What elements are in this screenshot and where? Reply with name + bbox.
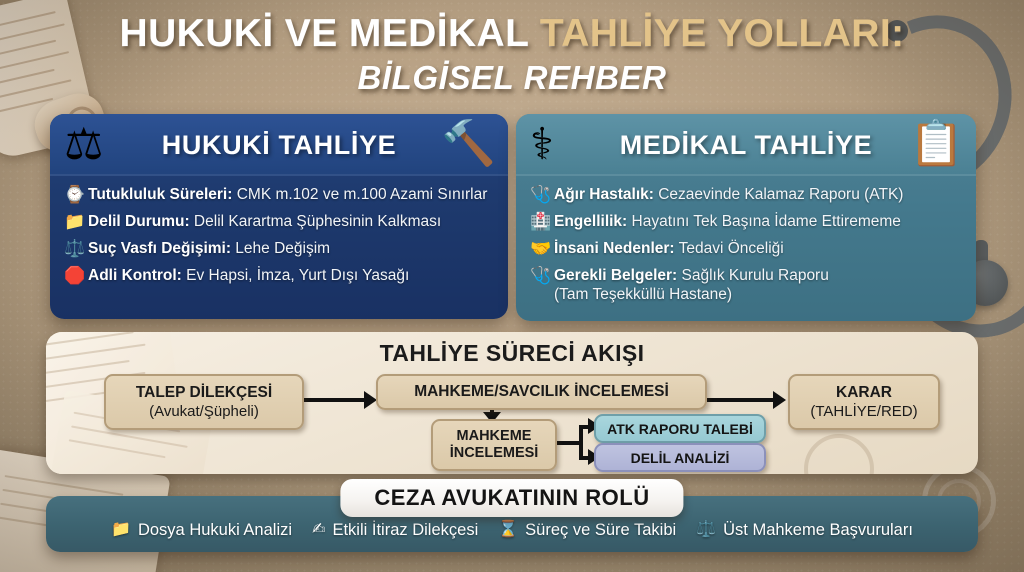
flow-box-title: KARAR bbox=[836, 384, 892, 402]
writing-hand-icon: ✍ bbox=[312, 521, 325, 539]
flow-connector-savcilik-to-karar bbox=[707, 398, 775, 402]
title-line1-gold: TAHLİYE YOLLARI: bbox=[540, 12, 905, 55]
circle-decoration-flow bbox=[804, 434, 874, 474]
page-title: HUKUKİ VE MEDİKAL TAHLİYE YOLLARI: BİLGİ… bbox=[0, 14, 1024, 97]
flow-box-atk-raporu-talebi[interactable]: ATK RAPORU TALEBİ bbox=[594, 414, 766, 443]
folder-icon: 📁 bbox=[62, 212, 88, 232]
scales-icon: ⚖️ bbox=[62, 239, 88, 259]
list-item-label: Gerekli Belgeler: bbox=[554, 267, 677, 284]
flow-box-mahkeme-incelemesi[interactable]: MAHKEME İNCELEMESİ bbox=[431, 419, 557, 471]
role-item-dosya-analizi[interactable]: 📁 Dosya Hukuki Analizi bbox=[111, 521, 292, 540]
medical-panel-header: ⚕ MEDİKAL TAHLİYE 📋 bbox=[516, 114, 976, 176]
list-item: ⚖️ Suç Vasfı Değişimi: Lehe Değişim bbox=[62, 239, 496, 259]
flow-box-title: MAHKEME/SAVCILIK İNCELEMESİ bbox=[414, 383, 669, 401]
list-item: 🩺 Gerekli Belgeler: Sağlık Kurulu Raporu… bbox=[528, 266, 964, 304]
gavel-icon: 🔨 bbox=[441, 122, 496, 166]
list-item-label: İnsani Nedenler: bbox=[554, 240, 675, 257]
legal-panel-title: HUKUKİ TAHLİYE bbox=[162, 130, 396, 161]
flow-box-title: TALEP DİLEKÇESİ bbox=[136, 384, 272, 402]
medical-release-panel: ⚕ MEDİKAL TAHLİYE 📋 🩺 Ağır Hastalık: Cez… bbox=[516, 114, 976, 321]
balance-scale-icon: ⚖ bbox=[64, 123, 103, 167]
caduceus-icon: ⚕ bbox=[530, 123, 554, 167]
title-line2: BİLGİSEL REHBER bbox=[0, 59, 1024, 97]
scales-icon: ⚖️ bbox=[696, 521, 716, 539]
hospital-icon: 🏥 bbox=[528, 212, 554, 232]
stethoscope-icon: 🩺 bbox=[528, 185, 554, 205]
role-item-label: Süreç ve Süre Takibi bbox=[525, 521, 676, 540]
medical-clipboard-icon: 📋 bbox=[909, 122, 964, 166]
list-item-value: Delil Karartma Şüphesinin Kalkması bbox=[190, 213, 442, 230]
role-item-itiraz-dilekcesi[interactable]: ✍ Etkili İtiraz Dilekçesi bbox=[312, 521, 478, 540]
flow-arrow-2 bbox=[773, 391, 786, 409]
flow-box-subtitle: (Avukat/Şüpheli) bbox=[149, 403, 259, 420]
process-flow-panel: TAHLİYE SÜRECİ AKIŞI TALEP DİLEKÇESİ (Av… bbox=[46, 332, 978, 474]
list-item: 🤝 İnsani Nedenler: Tedavi Önceliği bbox=[528, 239, 964, 259]
red-octagon-icon: 🛑 bbox=[62, 266, 88, 286]
hourglass-icon: ⌛ bbox=[498, 521, 518, 539]
flow-box-title: DELİL ANALİZİ bbox=[631, 450, 730, 466]
role-item-list: 📁 Dosya Hukuki Analizi ✍ Etkili İtiraz D… bbox=[111, 521, 913, 540]
flow-box-delil-analizi[interactable]: DELİL ANALİZİ bbox=[594, 443, 766, 472]
folder-icon: 📁 bbox=[111, 521, 131, 539]
watch-icon: ⌚ bbox=[62, 185, 88, 205]
flow-box-title: MAHKEME İNCELEMESİ bbox=[450, 428, 539, 462]
list-item: 🏥 Engellilik: Hayatını Tek Başına İdame … bbox=[528, 212, 964, 232]
list-item-value: Lehe Değişim bbox=[231, 240, 330, 257]
stethoscope-icon: 🩺 bbox=[528, 266, 554, 286]
role-section-badge: CEZA AVUKATININ ROLÜ bbox=[340, 479, 683, 517]
flow-box-mahkeme-savcilik-incelemesi[interactable]: MAHKEME/SAVCILIK İNCELEMESİ bbox=[376, 374, 707, 410]
legal-panel-header: ⚖ HUKUKİ TAHLİYE 🔨 bbox=[50, 114, 508, 176]
infographic-canvas: HUKUKİ VE MEDİKAL TAHLİYE YOLLARI: BİLGİ… bbox=[0, 0, 1024, 572]
list-item: ⌚ Tutukluluk Süreleri: CMK m.102 ve m.10… bbox=[62, 185, 496, 205]
list-item-value: Cezaevinde Kalamaz Raporu (ATK) bbox=[654, 186, 904, 203]
list-item-label: Suç Vasfı Değişimi: bbox=[88, 240, 231, 257]
legal-panel-body: ⌚ Tutukluluk Süreleri: CMK m.102 ve m.10… bbox=[50, 176, 508, 303]
flow-section-title: TAHLİYE SÜRECİ AKIŞI bbox=[46, 340, 978, 367]
list-item-value: CMK m.102 ve m.100 Azami Sınırlar bbox=[232, 186, 487, 203]
medical-panel-body: 🩺 Ağır Hastalık: Cezaevinde Kalamaz Rapo… bbox=[516, 176, 976, 321]
list-item-label: Engellilik: bbox=[554, 213, 627, 230]
role-item-label: Dosya Hukuki Analizi bbox=[138, 521, 292, 540]
flow-connector-split bbox=[579, 426, 583, 460]
medical-panel-title: MEDİKAL TAHLİYE bbox=[620, 130, 873, 161]
flow-box-title: ATK RAPORU TALEBİ bbox=[607, 421, 753, 437]
flow-box-subtitle: (TAHLİYE/RED) bbox=[810, 403, 917, 420]
role-item-ust-mahkeme[interactable]: ⚖️ Üst Mahkeme Başvuruları bbox=[696, 521, 913, 540]
list-item: 🛑 Adli Kontrol: Ev Hapsi, İmza, Yurt Dış… bbox=[62, 266, 496, 286]
legal-release-panel: ⚖ HUKUKİ TAHLİYE 🔨 ⌚ Tutukluluk Süreleri… bbox=[50, 114, 508, 319]
list-item: 🩺 Ağır Hastalık: Cezaevinde Kalamaz Rapo… bbox=[528, 185, 964, 205]
role-item-surec-takibi[interactable]: ⌛ Süreç ve Süre Takibi bbox=[498, 521, 676, 540]
list-item-value: Tedavi Önceliği bbox=[675, 240, 784, 257]
role-item-label: Etkili İtiraz Dilekçesi bbox=[332, 521, 478, 540]
flow-connector-talep-to-savcilik bbox=[304, 398, 366, 402]
handshake-icon: 🤝 bbox=[528, 239, 554, 259]
role-item-label: Üst Mahkeme Başvuruları bbox=[723, 521, 913, 540]
title-line1-white: HUKUKİ VE MEDİKAL bbox=[120, 12, 540, 55]
list-item-label: Adli Kontrol: bbox=[88, 267, 182, 284]
list-item-label: Tutukluluk Süreleri: bbox=[88, 186, 232, 203]
list-item: 📁 Delil Durumu: Delil Karartma Şüphesini… bbox=[62, 212, 496, 232]
list-item-value: Hayatını Tek Başına İdame Ettirememe bbox=[627, 213, 901, 230]
flow-box-talep-dilekcesi[interactable]: TALEP DİLEKÇESİ (Avukat/Şüpheli) bbox=[104, 374, 304, 430]
list-item-label: Delil Durumu: bbox=[88, 213, 190, 230]
list-item-label: Ağır Hastalık: bbox=[554, 186, 654, 203]
flow-box-karar[interactable]: KARAR (TAHLİYE/RED) bbox=[788, 374, 940, 430]
list-item-value: Ev Hapsi, İmza, Yurt Dışı Yasağı bbox=[182, 267, 409, 284]
